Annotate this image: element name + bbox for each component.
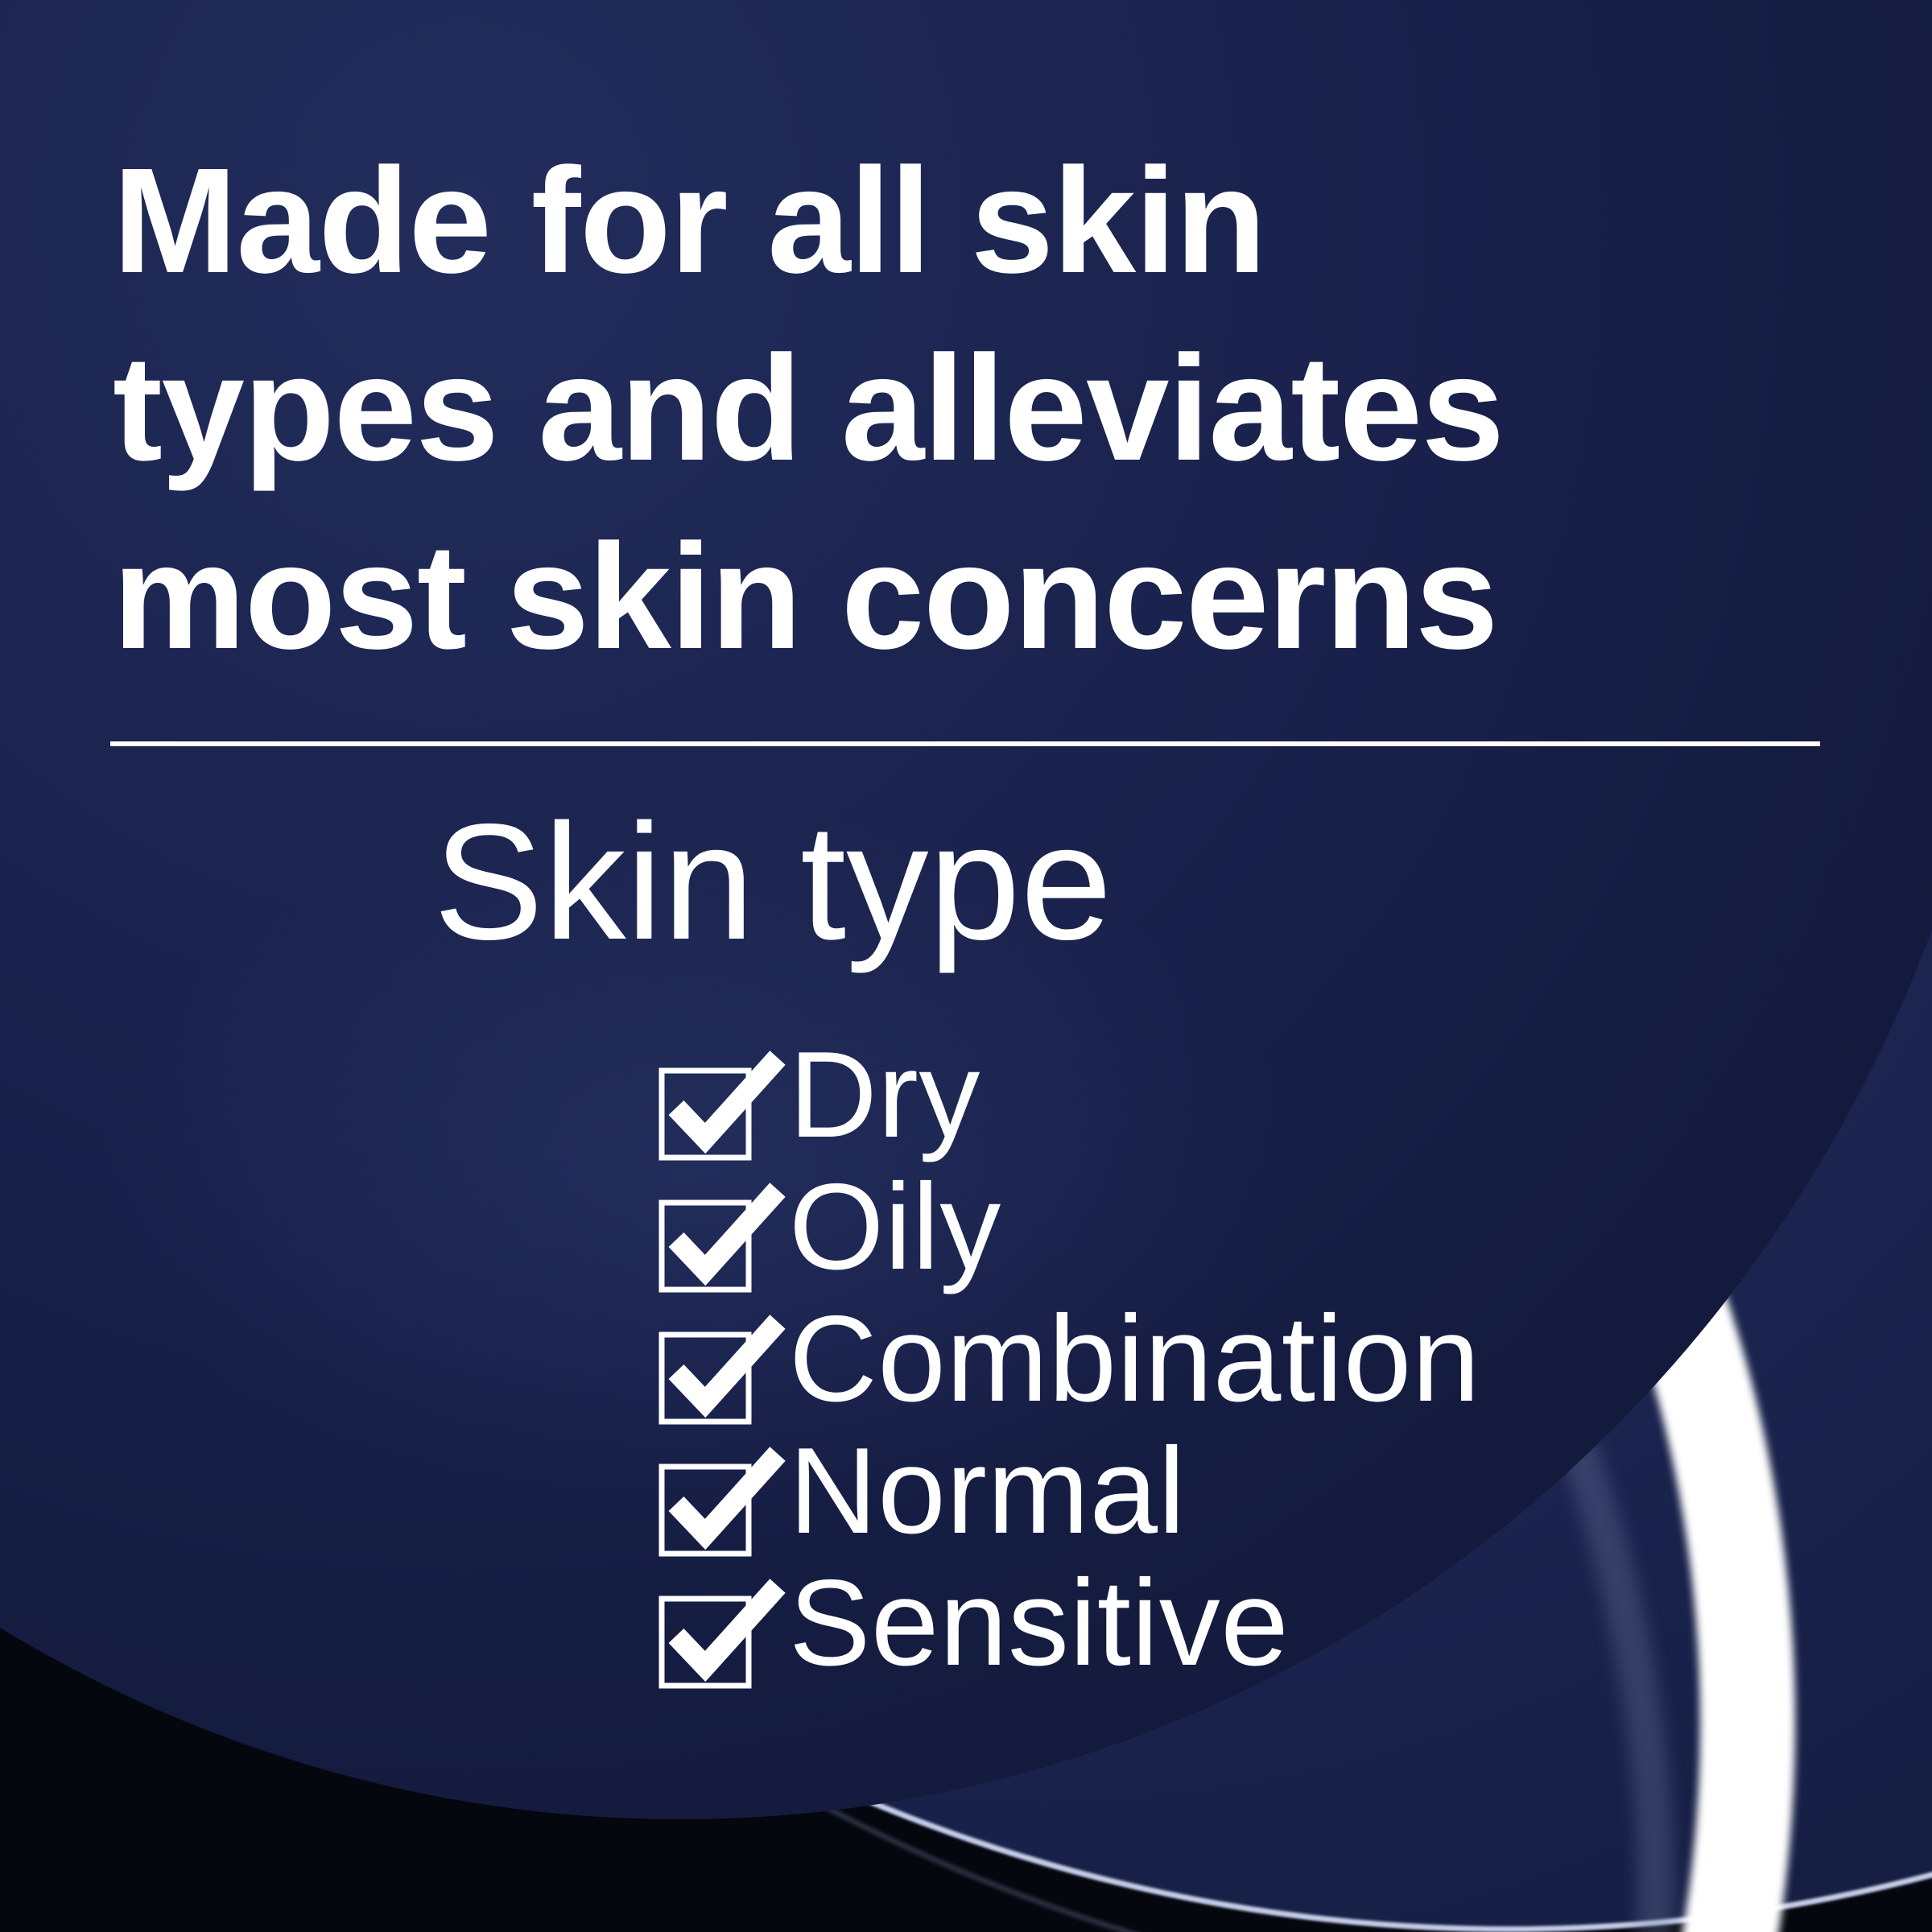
divider-rule (110, 741, 1820, 746)
content-layer: Made for all skin types and alleviates m… (0, 0, 1932, 1932)
headline-line-3: most skin concerns (113, 503, 1771, 691)
headline: Made for all skin types and alleviates m… (113, 127, 1771, 691)
checkbox-checked-icon[interactable] (658, 1583, 803, 1703)
promo-card: Made for all skin types and alleviates m… (0, 0, 1932, 1932)
list-item-label: Sensitive (789, 1562, 1289, 1684)
list-item-label: Dry (789, 1034, 980, 1156)
list-item-label: Combination (789, 1298, 1480, 1420)
headline-line-1: Made for all skin (113, 127, 1771, 315)
checkbox-checked-icon[interactable] (658, 1187, 803, 1307)
headline-line-2: types and alleviates (113, 315, 1771, 502)
list-item-label: Normal (789, 1430, 1186, 1552)
checkbox-checked-icon[interactable] (658, 1451, 803, 1571)
section-title: Skin type (0, 799, 1739, 964)
checkbox-checked-icon[interactable] (658, 1319, 803, 1439)
checkbox-checked-icon[interactable] (658, 1055, 803, 1175)
list-item-label: Oily (789, 1166, 1001, 1288)
